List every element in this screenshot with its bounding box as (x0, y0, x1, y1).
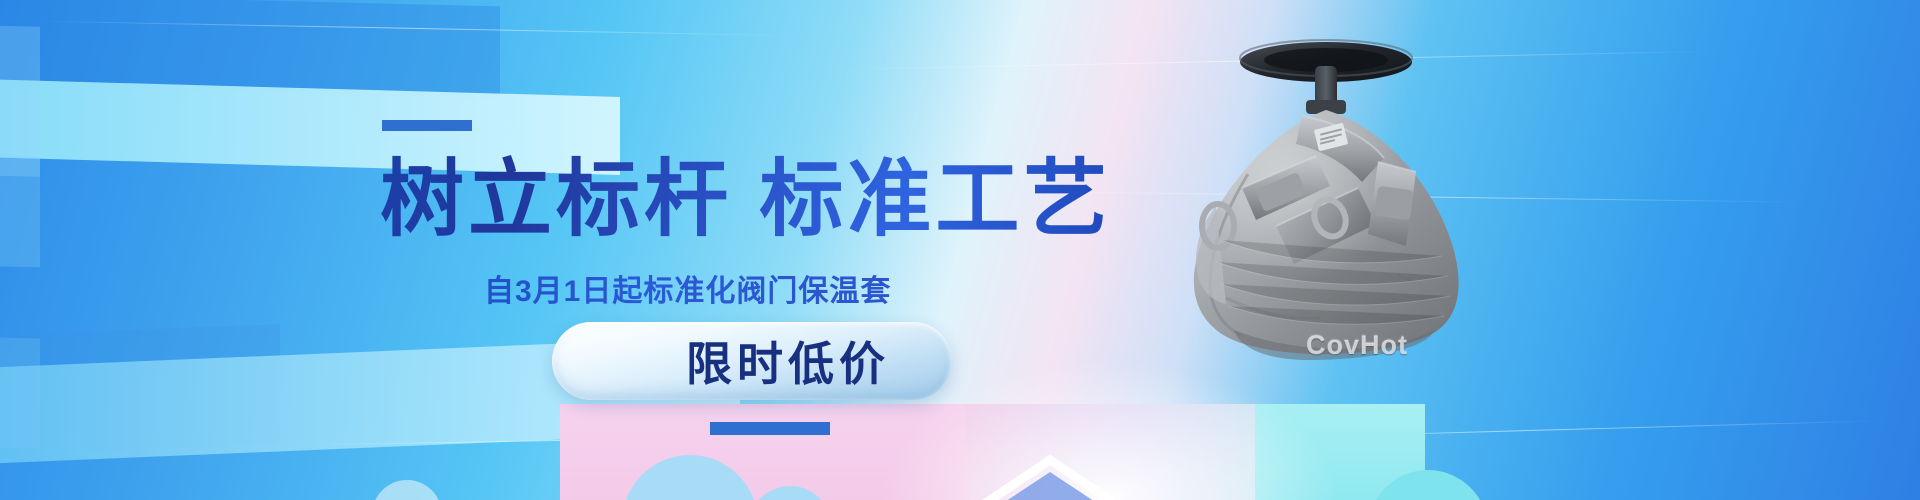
banner-headline: 树立标杆 标准工艺 (380, 155, 1111, 244)
banner-subtitle: 自3月1日起标准化阀门保温套 (484, 266, 891, 310)
accent-tick-bar (382, 120, 472, 131)
product-watermark: CovHot (1306, 330, 1408, 361)
accent-under-bar (710, 422, 830, 435)
circle-right (1368, 470, 1488, 500)
cta-button[interactable]: 限时低价 (552, 322, 952, 400)
product-image-valve-jacket: CovHot (1130, 30, 1550, 430)
copy-block: 树立标杆 标准工艺 自3月1日起标准化阀门保温套 限时低价 (0, 0, 1180, 500)
promo-banner: 树立标杆 标准工艺 自3月1日起标准化阀门保温套 限时低价 (0, 0, 1920, 500)
cta-button-label: 限时低价 (614, 328, 890, 394)
